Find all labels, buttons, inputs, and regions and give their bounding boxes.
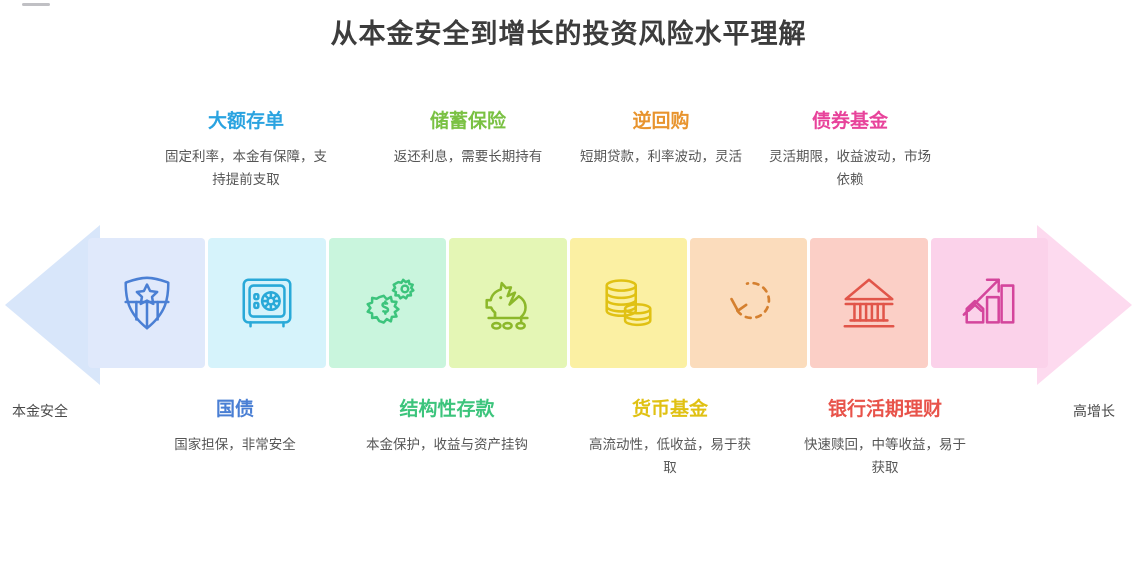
callout-top-3-desc: 短期贷款，利率波动，灵活 — [566, 146, 756, 170]
callout-top-1-title: 大额存单 — [151, 110, 341, 134]
callout-bottom-2-desc: 本金保护，收益与资产挂钩 — [352, 434, 542, 458]
tile-6-dashed-refresh-arrow[interactable] — [690, 238, 807, 368]
callout-top-4-desc: 灵活期限，收益波动，市场依赖 — [755, 146, 945, 193]
broken-piggy-bank-icon — [477, 272, 539, 334]
callout-bottom-1-title: 国债 — [140, 398, 330, 422]
callout-bottom-3: 货币基金 高流动性，低收益，易于获取 — [575, 398, 765, 481]
tile-2-safe-vault[interactable] — [208, 238, 325, 368]
tile-8-growth-chart-arrow[interactable] — [931, 238, 1048, 368]
bank-building-icon — [838, 272, 900, 334]
callout-bottom-4: 银行活期理财 快速赎回，中等收益，易于获取 — [790, 398, 980, 481]
callout-top-3: 逆回购 短期贷款，利率波动，灵活 — [566, 110, 756, 169]
callout-top-2-desc: 返还利息，需要长期持有 — [373, 146, 563, 170]
dashed-refresh-arrow-icon — [718, 272, 780, 334]
arrow-left-safety — [5, 225, 100, 385]
gears-dollar-icon — [356, 272, 418, 334]
arrow-right-growth — [1037, 225, 1132, 385]
callout-bottom-3-title: 货币基金 — [575, 398, 765, 422]
callout-bottom-2: 结构性存款 本金保护，收益与资产挂钩 — [352, 398, 542, 457]
callout-bottom-1: 国债 国家担保，非常安全 — [140, 398, 330, 457]
tile-4-broken-piggy-bank[interactable] — [449, 238, 566, 368]
callout-bottom-3-desc: 高流动性，低收益，易于获取 — [575, 434, 765, 481]
callout-top-4: 债券基金 灵活期限，收益波动，市场依赖 — [755, 110, 945, 193]
callout-top-1: 大额存单 固定利率，本金有保障，支持提前支取 — [151, 110, 341, 193]
tile-1-shield-star[interactable] — [88, 238, 205, 368]
scale-label-right: 高增长 — [1073, 401, 1115, 421]
tile-7-bank-building[interactable] — [810, 238, 927, 368]
tile-5-coin-stack[interactable] — [570, 238, 687, 368]
growth-chart-arrow-icon — [958, 272, 1020, 334]
callout-top-4-title: 债券基金 — [755, 110, 945, 134]
callout-bottom-2-title: 结构性存款 — [352, 398, 542, 422]
shield-star-icon — [116, 272, 178, 334]
risk-scale: 本金安全 高增长 — [0, 225, 1137, 385]
callout-bottom-4-desc: 快速赎回，中等收益，易于获取 — [790, 434, 980, 481]
callout-top-2: 储蓄保险 返还利息，需要长期持有 — [373, 110, 563, 169]
corner-rule — [22, 3, 50, 6]
callout-bottom-4-title: 银行活期理财 — [790, 398, 980, 422]
callout-top-3-title: 逆回购 — [566, 110, 756, 134]
callout-top-1-desc: 固定利率，本金有保障，支持提前支取 — [151, 146, 341, 193]
icon-tile-strip — [88, 238, 1048, 368]
callout-bottom-1-desc: 国家担保，非常安全 — [140, 434, 330, 458]
page-title: 从本金安全到增长的投资风险水平理解 — [0, 12, 1137, 51]
callout-top-2-title: 储蓄保险 — [373, 110, 563, 134]
safe-vault-icon — [236, 272, 298, 334]
tile-3-gears-dollar[interactable] — [329, 238, 446, 368]
scale-label-left: 本金安全 — [12, 401, 68, 421]
coin-stack-icon — [597, 272, 659, 334]
